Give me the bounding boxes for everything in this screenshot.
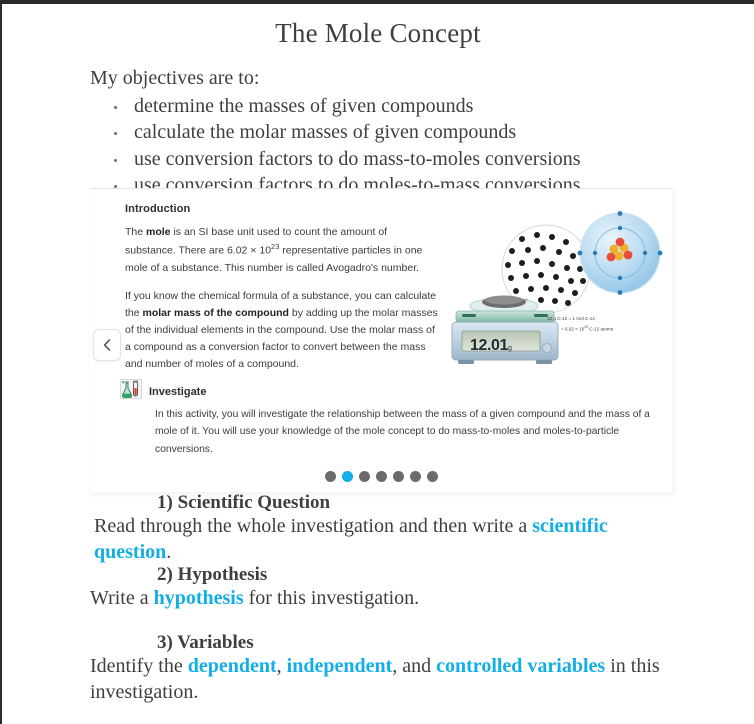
list-item: calculate the molar masses of given comp…: [110, 119, 754, 145]
carousel-prev-button[interactable]: [93, 329, 121, 361]
section-scientific-question: 1) Scientific Question Read through the …: [2, 492, 702, 565]
investigate-body: In this activity, you will investigate t…: [155, 406, 655, 458]
carousel-dot-1[interactable]: [325, 471, 336, 482]
note-line2-prefix: = 6.02 × 10: [561, 326, 584, 331]
h-seg1: Write a: [90, 587, 154, 609]
carousel-dot-5[interactable]: [393, 471, 404, 482]
introduction-heading: Introduction: [125, 203, 440, 215]
carousel-dot-2[interactable]: [342, 471, 353, 482]
section-heading: 3) Variables: [157, 632, 702, 654]
note-line2-suffix: C-12 atoms: [588, 326, 613, 331]
section-heading: 2) Hypothesis: [157, 564, 702, 586]
illustration-note-line1: 12 g C-12 = 1 mol C-12: [547, 316, 595, 321]
lab-apparatus-icon: [120, 379, 142, 404]
intro-p1-seg1: The: [125, 226, 146, 238]
introduction-paragraph-2: If you know the chemical formula of a su…: [125, 288, 440, 373]
intro-p2-bold-molarmass: molar mass of the compound: [143, 307, 289, 319]
section-variables: 3) Variables Identify the dependent, ind…: [2, 632, 702, 705]
carousel-dots: [90, 471, 672, 482]
v-highlight-dependent: dependent: [188, 655, 277, 677]
q-seg1: Read through the whole investigation and…: [94, 515, 532, 537]
h-highlight-hypothesis: hypothesis: [154, 587, 244, 609]
illustration-note-line2: = 6.02 × 1023 C-12 atoms: [547, 324, 613, 334]
investigate-heading-row: Investigate: [120, 379, 206, 404]
objectives-list: determine the masses of given compounds …: [2, 93, 754, 199]
embedded-lesson-card: Introduction The mole is an SI base unit…: [90, 188, 672, 492]
carousel-dot-6[interactable]: [410, 471, 421, 482]
section-body: Read through the whole investigation and…: [94, 514, 674, 565]
carousel-dot-7[interactable]: [427, 471, 438, 482]
intro-p1-bold-mole: mole: [146, 226, 171, 238]
carousel-dot-3[interactable]: [359, 471, 370, 482]
atom-diagram-icon: [578, 211, 663, 295]
scale-readout: 12.01g: [470, 337, 512, 355]
v-seg3: , and: [392, 655, 436, 677]
section-body: Write a hypothesis for this investigatio…: [90, 586, 670, 612]
mole-illustration: 12.01g 12 g C-12 = 1 mol C-12 = 6.02 × 1…: [442, 211, 670, 371]
carousel-dot-4[interactable]: [376, 471, 387, 482]
v-highlight-controlled-variables: controlled variables: [436, 655, 605, 677]
q-seg2: .: [166, 541, 171, 563]
section-body: Identify the dependent, independent, and…: [90, 654, 670, 705]
introduction-text-column: Introduction The mole is an SI base unit…: [125, 203, 440, 384]
page-title: The Mole Concept: [2, 18, 754, 49]
v-seg2: ,: [277, 655, 287, 677]
scale-reading-value: 12.01: [470, 337, 508, 354]
chevron-left-icon: [103, 339, 111, 351]
scale-reading-unit: g: [508, 345, 512, 352]
list-item: use conversion factors to do mass-to-mol…: [110, 146, 754, 172]
objectives-lead: My objectives are to:: [90, 67, 754, 90]
illustration-note: 12 g C-12 = 1 mol C-12 = 6.02 × 1023 C-1…: [547, 315, 613, 334]
section-hypothesis: 2) Hypothesis Write a hypothesis for thi…: [2, 564, 702, 612]
section-heading: 1) Scientific Question: [157, 492, 702, 514]
v-highlight-independent: independent: [287, 655, 393, 677]
introduction-paragraph-1: The mole is an SI base unit used to coun…: [125, 224, 440, 277]
v-seg1: Identify the: [90, 655, 188, 677]
list-item: determine the masses of given compounds: [110, 93, 754, 119]
h-seg2: for this investigation.: [244, 587, 420, 609]
investigate-heading: Investigate: [149, 386, 206, 398]
